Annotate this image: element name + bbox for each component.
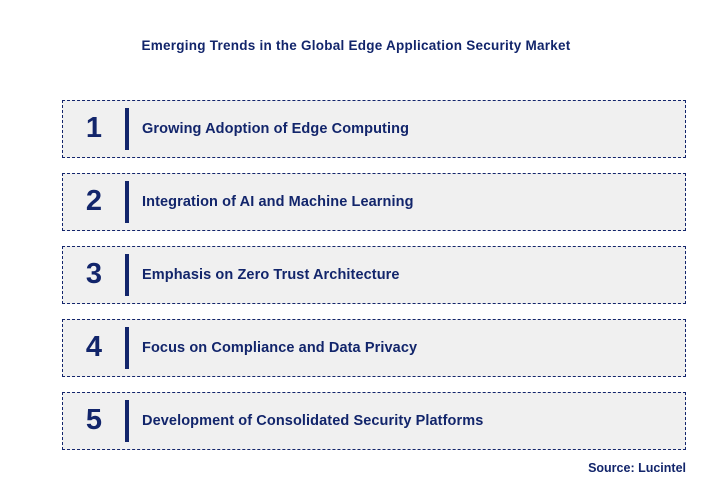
list-item: 3 Emphasis on Zero Trust Architecture — [62, 246, 686, 304]
trend-rank: 2 — [63, 187, 125, 218]
list-item: 5 Development of Consolidated Security P… — [62, 392, 686, 450]
trend-rank: 3 — [63, 260, 125, 291]
trend-list: 1 Growing Adoption of Edge Computing 2 I… — [62, 100, 686, 450]
page-title: Emerging Trends in the Global Edge Appli… — [0, 38, 712, 53]
infographic-canvas: Emerging Trends in the Global Edge Appli… — [0, 0, 712, 501]
trend-label: Emphasis on Zero Trust Architecture — [129, 267, 685, 283]
trend-rank: 1 — [63, 114, 125, 145]
trend-rank: 4 — [63, 333, 125, 364]
source-note: Source: Lucintel — [588, 461, 686, 475]
trend-label: Growing Adoption of Edge Computing — [129, 121, 685, 137]
list-item: 2 Integration of AI and Machine Learning — [62, 173, 686, 231]
list-item: 1 Growing Adoption of Edge Computing — [62, 100, 686, 158]
list-item: 4 Focus on Compliance and Data Privacy — [62, 319, 686, 377]
trend-label: Integration of AI and Machine Learning — [129, 194, 685, 210]
trend-label: Development of Consolidated Security Pla… — [129, 413, 685, 429]
trend-label: Focus on Compliance and Data Privacy — [129, 340, 685, 356]
trend-rank: 5 — [63, 406, 125, 437]
